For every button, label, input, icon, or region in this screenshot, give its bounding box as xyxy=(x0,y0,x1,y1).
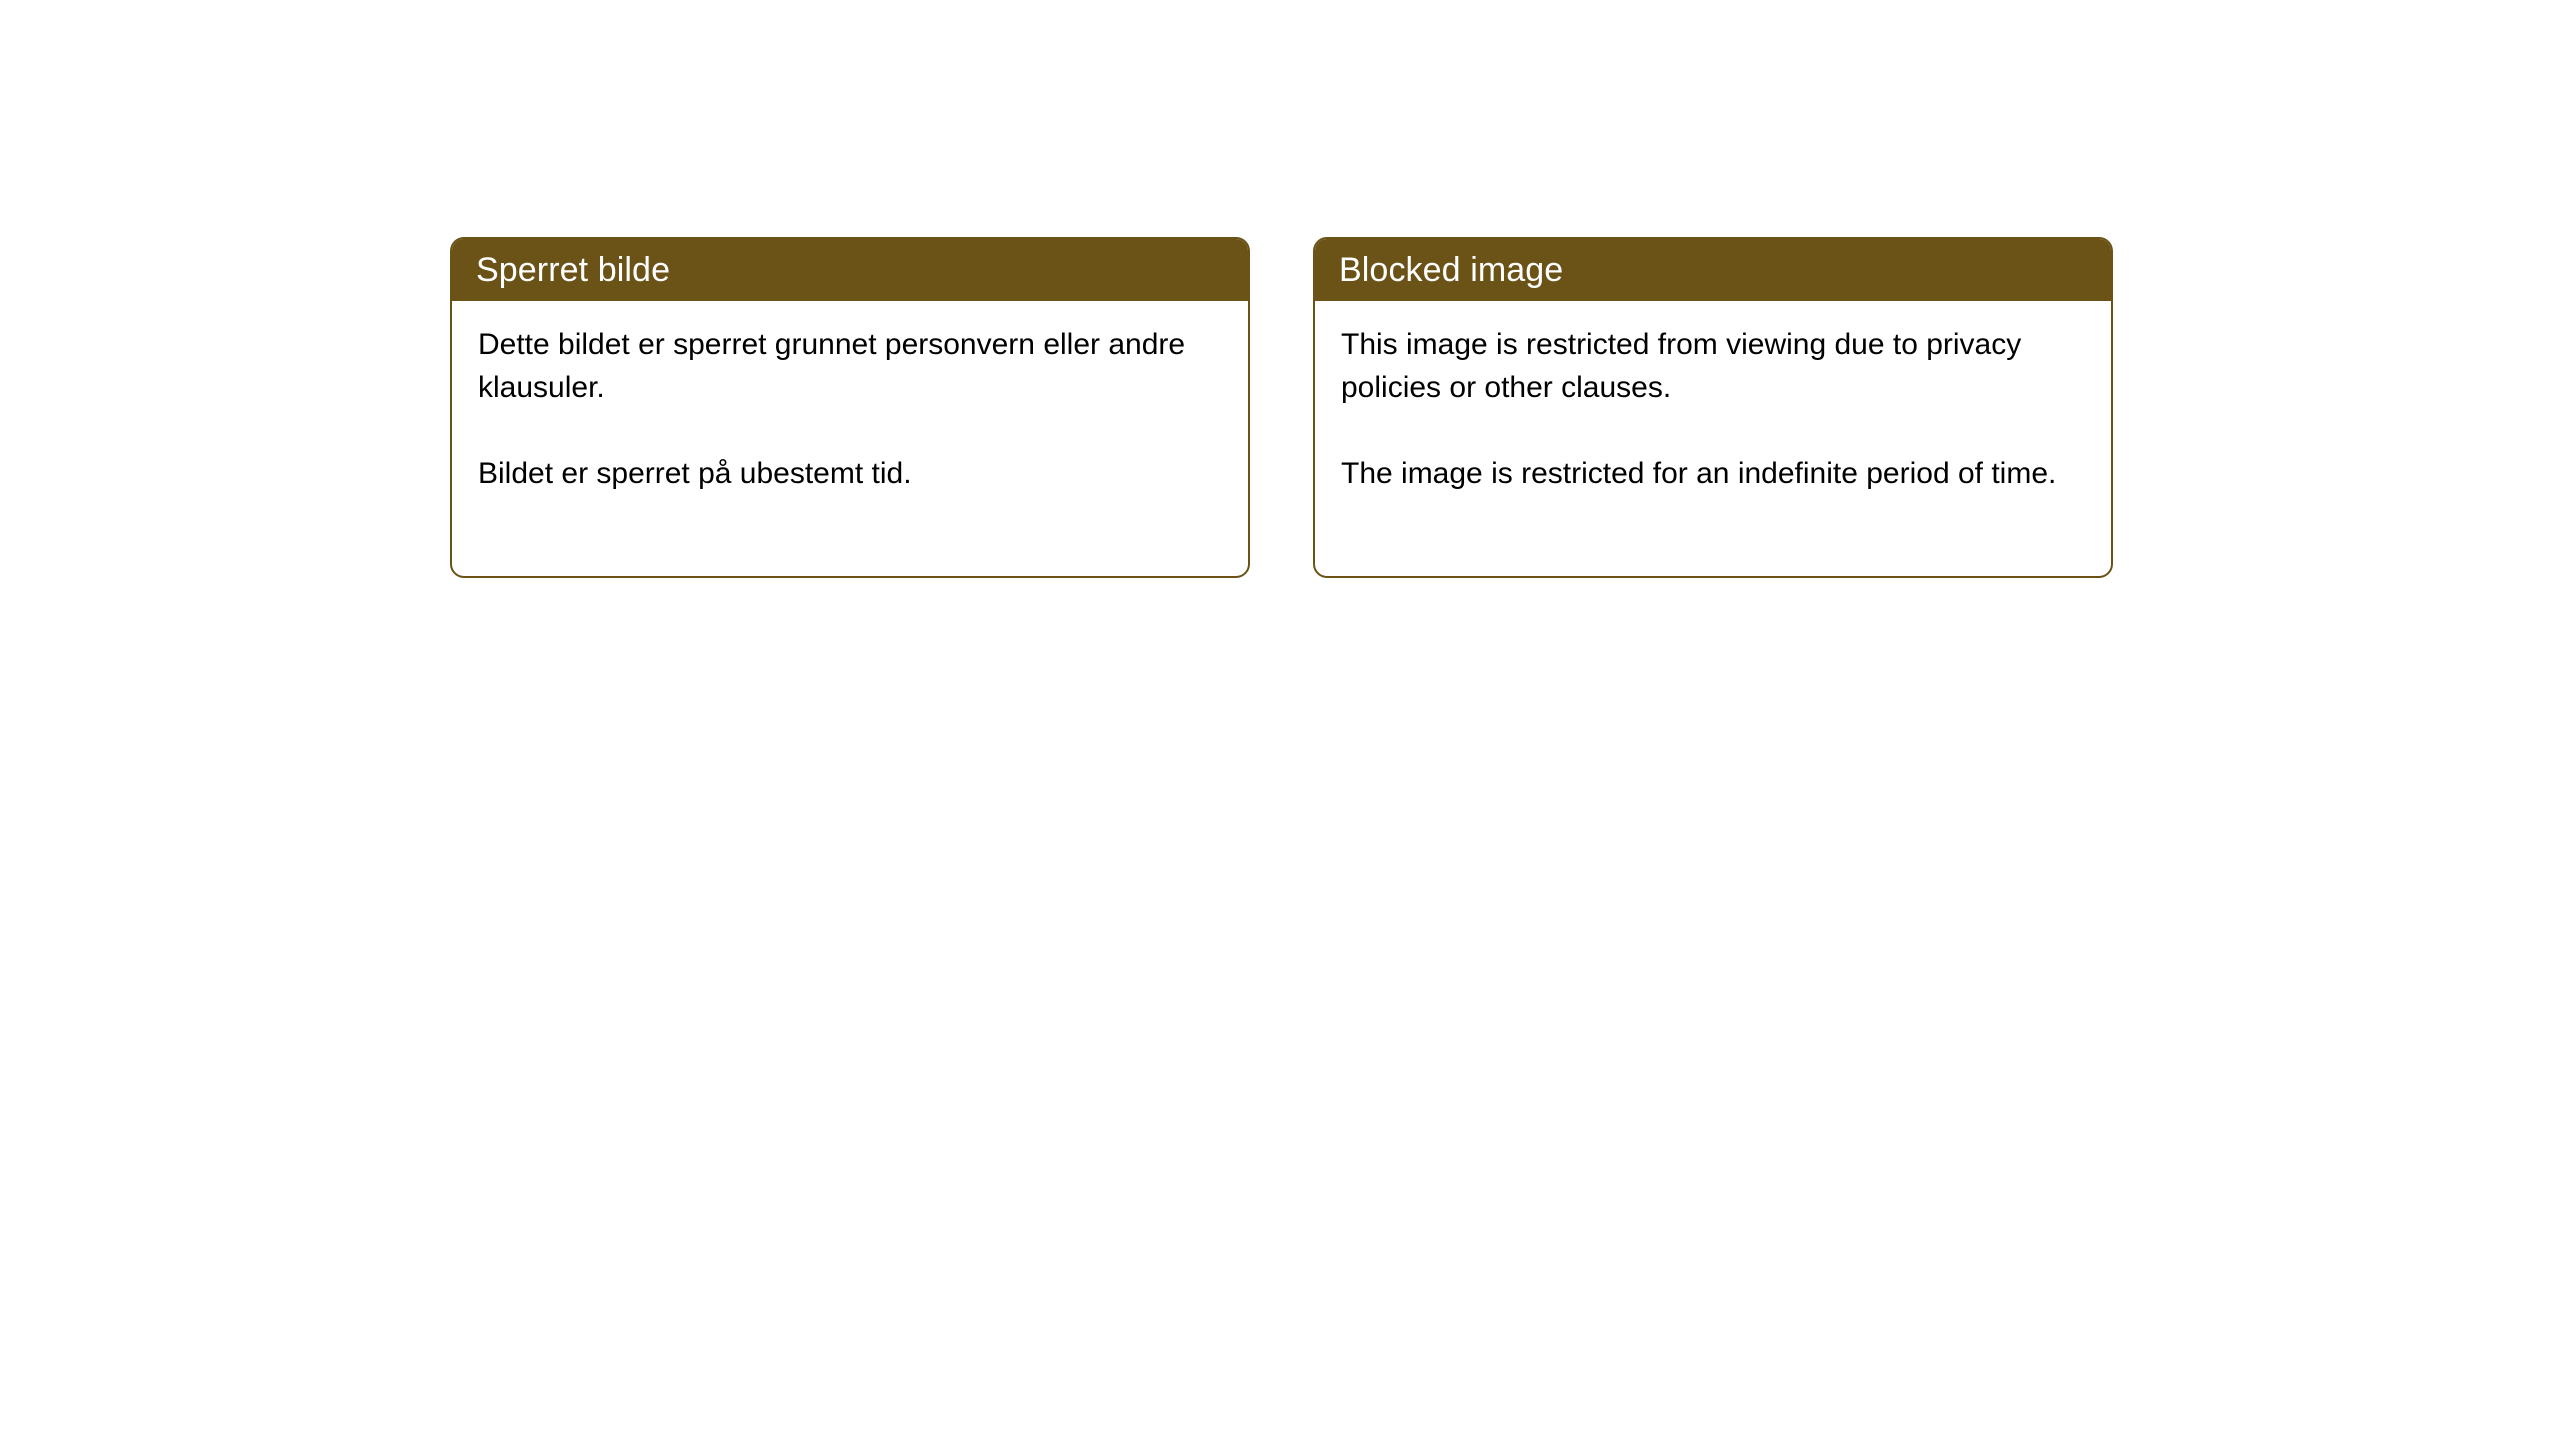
panel-body-no: Dette bildet er sperret grunnet personve… xyxy=(452,301,1248,576)
panel-body-en: This image is restricted from viewing du… xyxy=(1315,301,2111,576)
panel-title-no: Sperret bilde xyxy=(476,253,670,287)
panel-paragraph-reason-no: Dette bildet er sperret grunnet personve… xyxy=(478,323,1222,409)
blocked-image-notice-panel-no: Sperret bilde Dette bildet er sperret gr… xyxy=(450,237,1250,578)
blocked-image-notice-group: Sperret bilde Dette bildet er sperret gr… xyxy=(450,237,2113,578)
panel-paragraph-reason-en: This image is restricted from viewing du… xyxy=(1341,323,2085,409)
panel-paragraph-duration-no: Bildet er sperret på ubestemt tid. xyxy=(478,452,1222,495)
panel-header-en: Blocked image xyxy=(1315,239,2111,301)
panel-paragraph-duration-en: The image is restricted for an indefinit… xyxy=(1341,452,2085,495)
blocked-image-notice-panel-en: Blocked image This image is restricted f… xyxy=(1313,237,2113,578)
panel-header-no: Sperret bilde xyxy=(452,239,1248,301)
panel-title-en: Blocked image xyxy=(1339,253,1563,287)
